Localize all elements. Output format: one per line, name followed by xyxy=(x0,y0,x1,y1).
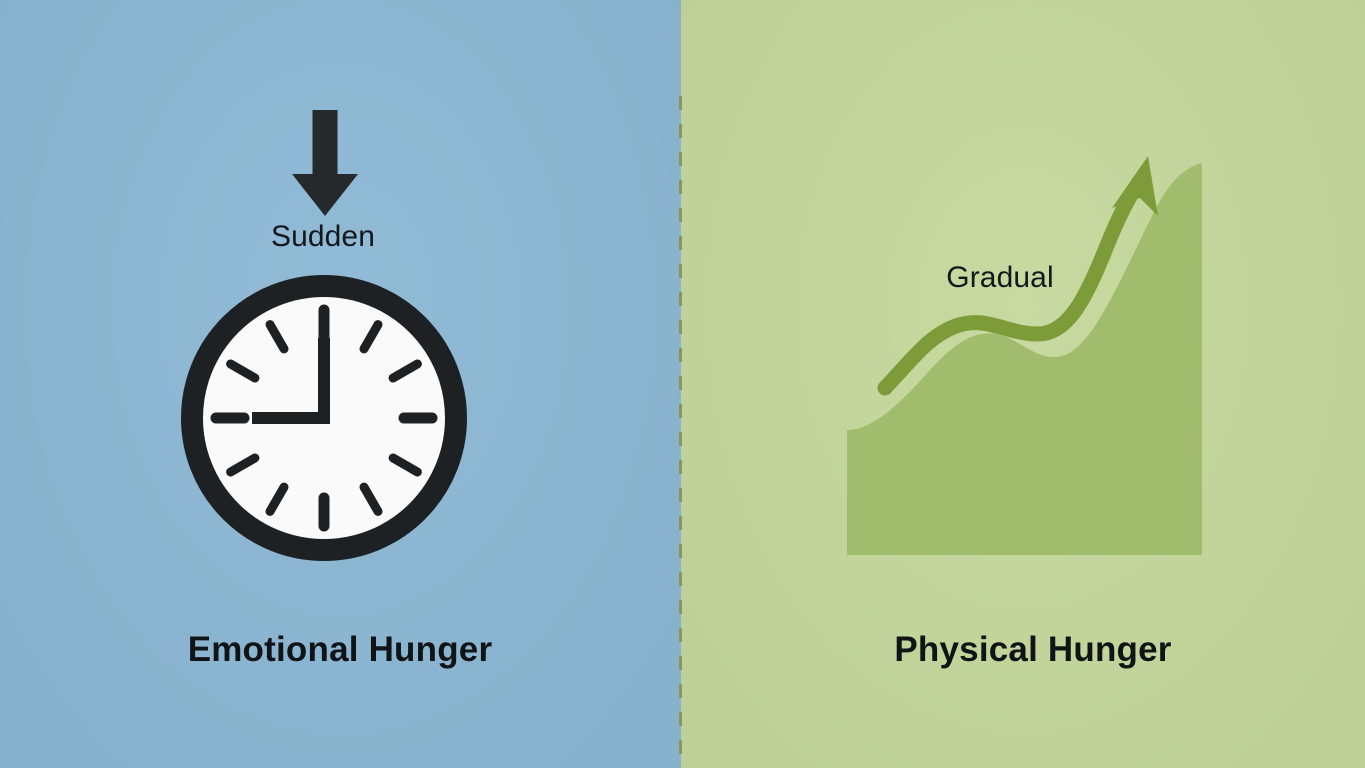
clock-icon xyxy=(178,272,470,564)
down-arrow-icon xyxy=(285,108,365,218)
infographic-canvas: Sudden xyxy=(0,0,1365,768)
gradual-annotation-label: Gradual xyxy=(860,263,1140,293)
physical-hunger-caption: Physical Hunger xyxy=(730,632,1336,667)
emotional-hunger-caption: Emotional Hunger xyxy=(30,632,650,667)
sudden-annotation-label: Sudden xyxy=(163,222,483,252)
panel-divider xyxy=(679,0,682,768)
gradual-rise-area-shape xyxy=(800,130,1250,580)
